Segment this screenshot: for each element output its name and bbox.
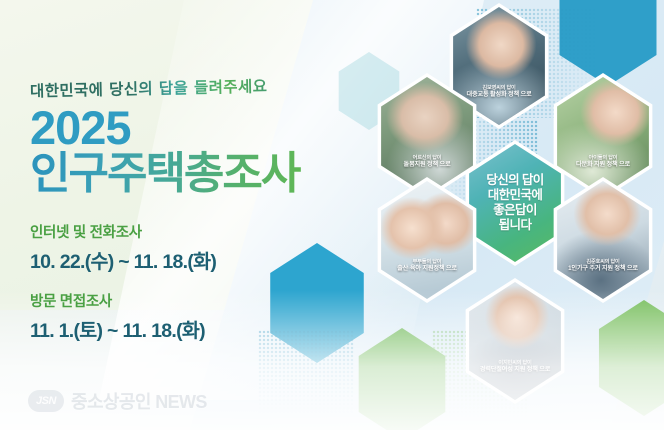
hex-message-text: 당신의 답이 대한민국에 좋은답이 됩니다 — [486, 173, 543, 234]
poster-tagline: 대한민국에 당신의 답을 들려주세요 — [30, 73, 360, 102]
schedule-label: 방문 면접조사 — [30, 290, 360, 311]
schedule-item-visit-interview: 방문 면접조사 11. 1.(토) ~ 11. 18.(화) — [30, 290, 360, 343]
hex-student-man-caption: 김준호씨의 답이 1인가구 주거 지원 정책 으로 — [550, 259, 656, 273]
hex-family-baby-caption: 부부들의 답이 출산·육아 지원정책 으로 — [374, 259, 480, 273]
poster-title: 인구주택총조사 — [30, 150, 360, 198]
message-line-2: 대한민국에 — [486, 188, 543, 203]
schedule-dates: 10. 22.(수) ~ 11. 18.(화) — [30, 245, 360, 274]
hex-child-park-caption: 아이들의 답이 다문화 지원 정책 으로 — [550, 155, 656, 169]
watermark-logo: JSN 중소상공인 NEWS — [28, 388, 207, 414]
schedule-label: 인터넷 및 전화조사 — [30, 221, 360, 242]
message-line-3: 좋은답이 — [486, 203, 543, 218]
poster-text-column: 대한민국에 당신의 답을 들려주세요 2025 인구주택총조사 인터넷 및 전화… — [30, 76, 360, 359]
message-line-4: 됩니다 — [486, 218, 543, 233]
schedule-dates: 11. 1.(토) ~ 11. 18.(화) — [30, 314, 360, 343]
poster-year: 2025 — [30, 104, 360, 152]
watermark-text: 중소상공인 NEWS — [71, 388, 207, 414]
message-line-1: 당신의 답이 — [486, 173, 543, 188]
census-poster: 김보영씨의 답이 대중교통 활성화 정책 으로 어르신의 답이 돌봄지원 정책 … — [0, 0, 664, 430]
hex-senior-care-caption: 어르신의 답이 돌봄지원 정책 으로 — [374, 155, 480, 169]
schedule-item-internet-phone: 인터넷 및 전화조사 10. 22.(수) ~ 11. 18.(화) — [30, 221, 360, 274]
jsn-badge-icon: JSN — [28, 390, 64, 412]
survey-schedule: 인터넷 및 전화조사 10. 22.(수) ~ 11. 18.(화) 방문 면접… — [30, 221, 360, 343]
